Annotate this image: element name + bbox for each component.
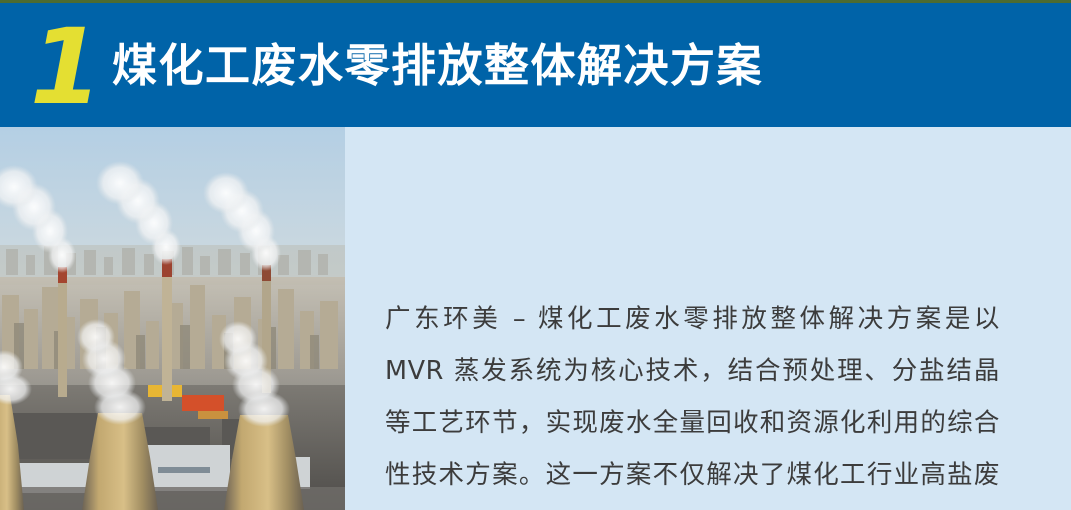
section-number: 1 bbox=[20, 11, 110, 123]
plant-photo-illustration bbox=[0, 127, 345, 510]
plant-photo bbox=[0, 127, 345, 510]
page-title: 煤化工废水零排放整体解决方案 bbox=[112, 33, 763, 99]
content-area: 广东环美 – 煤化工废水零排放整体解决方案是以 MVR 蒸发系统为核心技术，结合… bbox=[0, 127, 1071, 510]
slide-root: 1 煤化工废水零排放整体解决方案 bbox=[0, 0, 1071, 510]
description-paragraph: 广东环美 – 煤化工废水零排放整体解决方案是以 MVR 蒸发系统为核心技术，结合… bbox=[385, 293, 1000, 510]
header-band: 1 煤化工废水零排放整体解决方案 bbox=[0, 3, 1071, 127]
